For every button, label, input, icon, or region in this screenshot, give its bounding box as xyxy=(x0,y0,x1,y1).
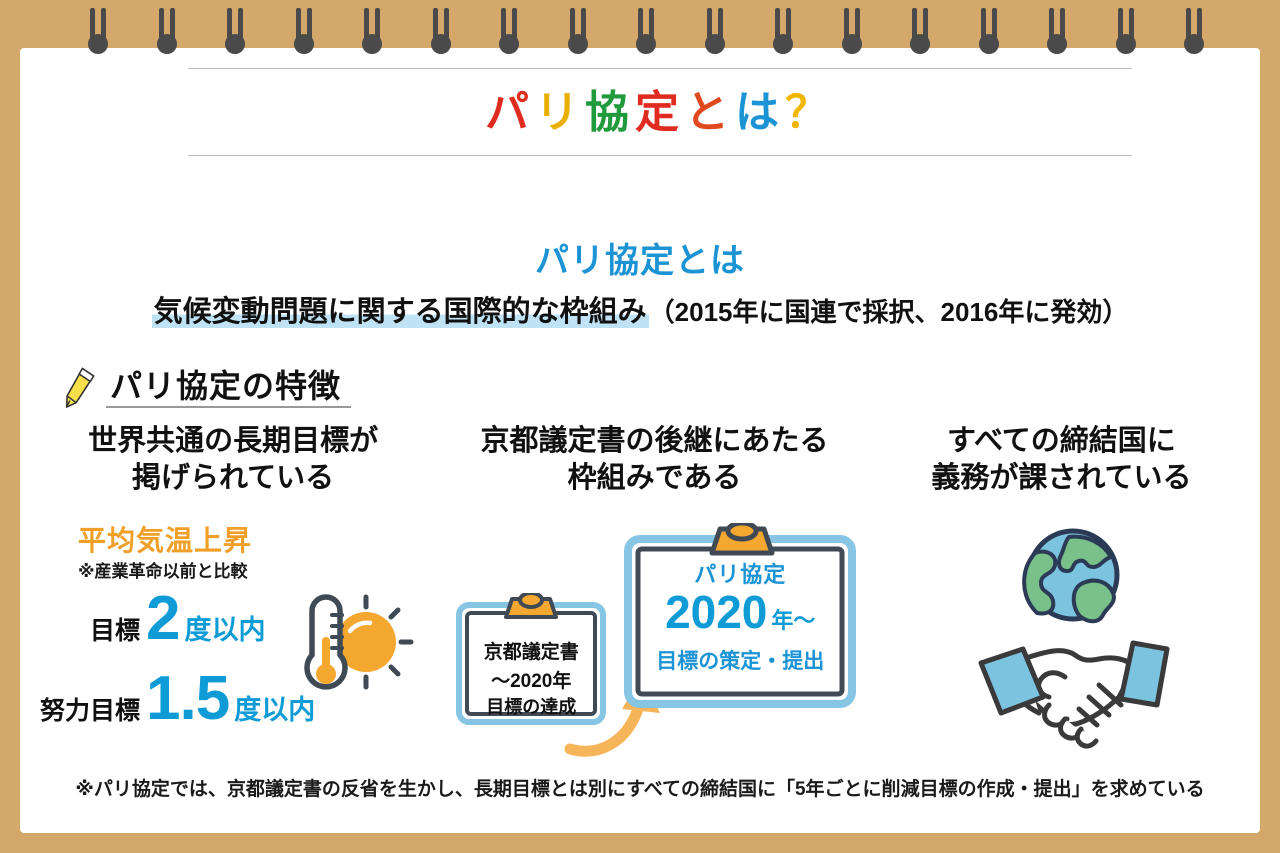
globe-handshake-icon xyxy=(923,527,1223,767)
title-char-6: ？ xyxy=(785,91,835,135)
title-char-1: リ xyxy=(535,91,585,135)
definition-highlighted-text: 気候変動問題に関する国際的な枠組み xyxy=(152,296,649,328)
title-block: パリ協定とは？ xyxy=(188,68,1132,156)
feature-columns: 世界共通の長期目標が 掲げられている 平均気温上昇 ※産業革命以前と比較 目標 … xyxy=(20,423,1260,769)
title-rule-bottom xyxy=(188,155,1132,156)
column-3-heading-line1: すべての締結国に xyxy=(863,423,1260,460)
column-2-heading-line2: 枠組みである xyxy=(446,460,863,497)
avg-temp-note: ※産業革命以前と比較 xyxy=(78,557,248,582)
clipboard-paris: パリ協定 2020年〜 目標の策定・提出 xyxy=(624,523,856,708)
page-surface: パリ協定とは？ パリ協定とは 気候変動問題に関する国際的な枠組み（2015年に国… xyxy=(20,48,1260,833)
clipboard-paris-year-suffix: 年〜 xyxy=(771,608,815,633)
goal-label-effort: 努力目標 xyxy=(40,691,140,727)
column-1-heading: 世界共通の長期目標が 掲げられている xyxy=(20,423,446,497)
column-3-heading: すべての締結国に 義務が課されている xyxy=(863,423,1260,497)
column-long-term-goal: 世界共通の長期目標が 掲げられている 平均気温上昇 ※産業革命以前と比較 目標 … xyxy=(20,423,446,769)
goal-row-target: 目標 2 度以内 xyxy=(90,591,266,647)
column-1-heading-line2: 掲げられている xyxy=(20,460,446,497)
goal-number-effort: 1.5 xyxy=(146,671,229,727)
title-char-0: パ xyxy=(485,91,535,135)
page-title: パリ協定とは？ xyxy=(188,69,1132,155)
column-kyoto-successor: 京都議定書の後継にあたる 枠組みである 京都議定書 xyxy=(446,423,863,769)
thermometer-sun-icon xyxy=(288,579,418,709)
goal-unit-target: 度以内 xyxy=(185,608,266,647)
intro-definition: 気候変動問題に関する国際的な枠組み（2015年に国連で採択、2016年に発効） xyxy=(20,288,1260,330)
goal-row-effort: 努力目標 1.5 度以内 xyxy=(40,671,315,727)
clipboard-paris-year-number: 2020 xyxy=(665,586,767,638)
goal-label-target: 目標 xyxy=(90,611,140,647)
clipboard-paris-line2: 2020年〜 xyxy=(624,589,856,635)
goal-number-target: 2 xyxy=(146,591,179,647)
definition-paren-text: （2015年に国連で採択、2016年に発効） xyxy=(649,297,1129,327)
title-char-5: は xyxy=(735,91,785,135)
column-2-heading: 京都議定書の後継にあたる 枠組みである xyxy=(446,423,863,497)
title-char-3: 定 xyxy=(635,91,685,135)
column-2-heading-line1: 京都議定書の後継にあたる xyxy=(446,423,863,460)
section-heading: パリ協定の特徴 xyxy=(60,366,351,408)
intro-subtitle: パリ協定とは xyxy=(20,233,1260,282)
column-3-heading-line2: 義務が課されている xyxy=(863,460,1260,497)
clipboard-paris-line3: 目標の策定・提出 xyxy=(624,645,856,675)
column-obligations: すべての締結国に 義務が課されている xyxy=(863,423,1260,769)
pencil-icon xyxy=(60,366,100,408)
notebook-frame: パリ協定とは？ パリ協定とは 気候変動問題に関する国際的な枠組み（2015年に国… xyxy=(0,0,1280,853)
clipboard-paris-line1: パリ協定 xyxy=(624,557,856,589)
column-1-heading-line1: 世界共通の長期目標が xyxy=(20,423,446,460)
avg-temp-label: 平均気温上昇 xyxy=(78,519,252,559)
section-heading-label: パリ協定の特徴 xyxy=(106,369,351,408)
title-char-4: と xyxy=(685,91,735,135)
title-char-2: 協 xyxy=(585,91,635,135)
footnote-text: ※パリ協定では、京都議定書の反省を生かし、長期目標とは別にすべての締結国に「5年… xyxy=(20,774,1260,801)
